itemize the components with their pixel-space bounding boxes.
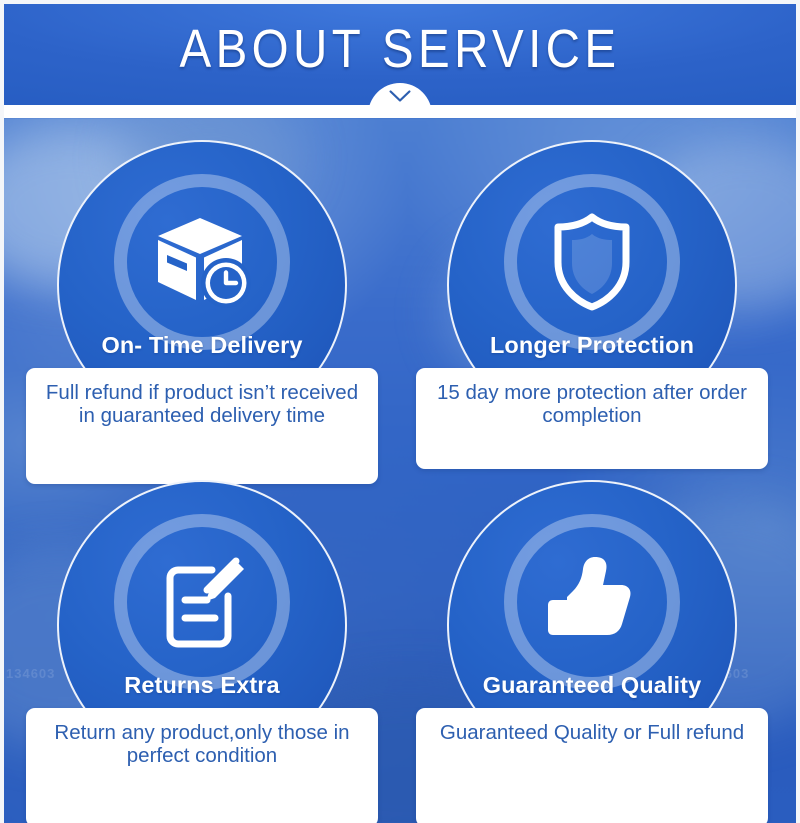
card-description: Return any product,only those in perfect… [38,722,366,768]
card-description: Full refund if product isn’t received in… [38,382,366,428]
card-title: Returns Extra [22,672,382,699]
service-cards-grid: On- Time Delivery Full refund if product… [0,118,800,823]
card-description-box: Return any product,only those in perfect… [26,708,378,823]
about-service-banner: ABOUT SERVICE 134603 134603 [0,0,800,823]
card-title: Longer Protection [412,332,772,359]
canvas-edge-top [0,0,800,4]
shield-icon [532,202,652,322]
card-description-box: Full refund if product isn’t received in… [26,368,378,484]
card-title: On- Time Delivery [22,332,382,359]
card-description: Guaranteed Quality or Full refund [428,722,756,745]
card-description-box: 15 day more protection after order compl… [416,368,768,469]
canvas-edge-right [796,0,800,823]
thumbs-up-icon [532,542,652,662]
card-description: 15 day more protection after order compl… [428,382,756,428]
page-title: ABOUT SERVICE [48,18,752,80]
document-pencil-icon [142,542,262,662]
chevron-down-icon[interactable] [389,90,411,103]
header-divider [0,105,800,118]
card-description-box: Guaranteed Quality or Full refund [416,708,768,823]
card-title: Guaranteed Quality [412,672,772,699]
box-with-clock-icon [142,202,262,322]
canvas-edge-left [0,0,4,823]
